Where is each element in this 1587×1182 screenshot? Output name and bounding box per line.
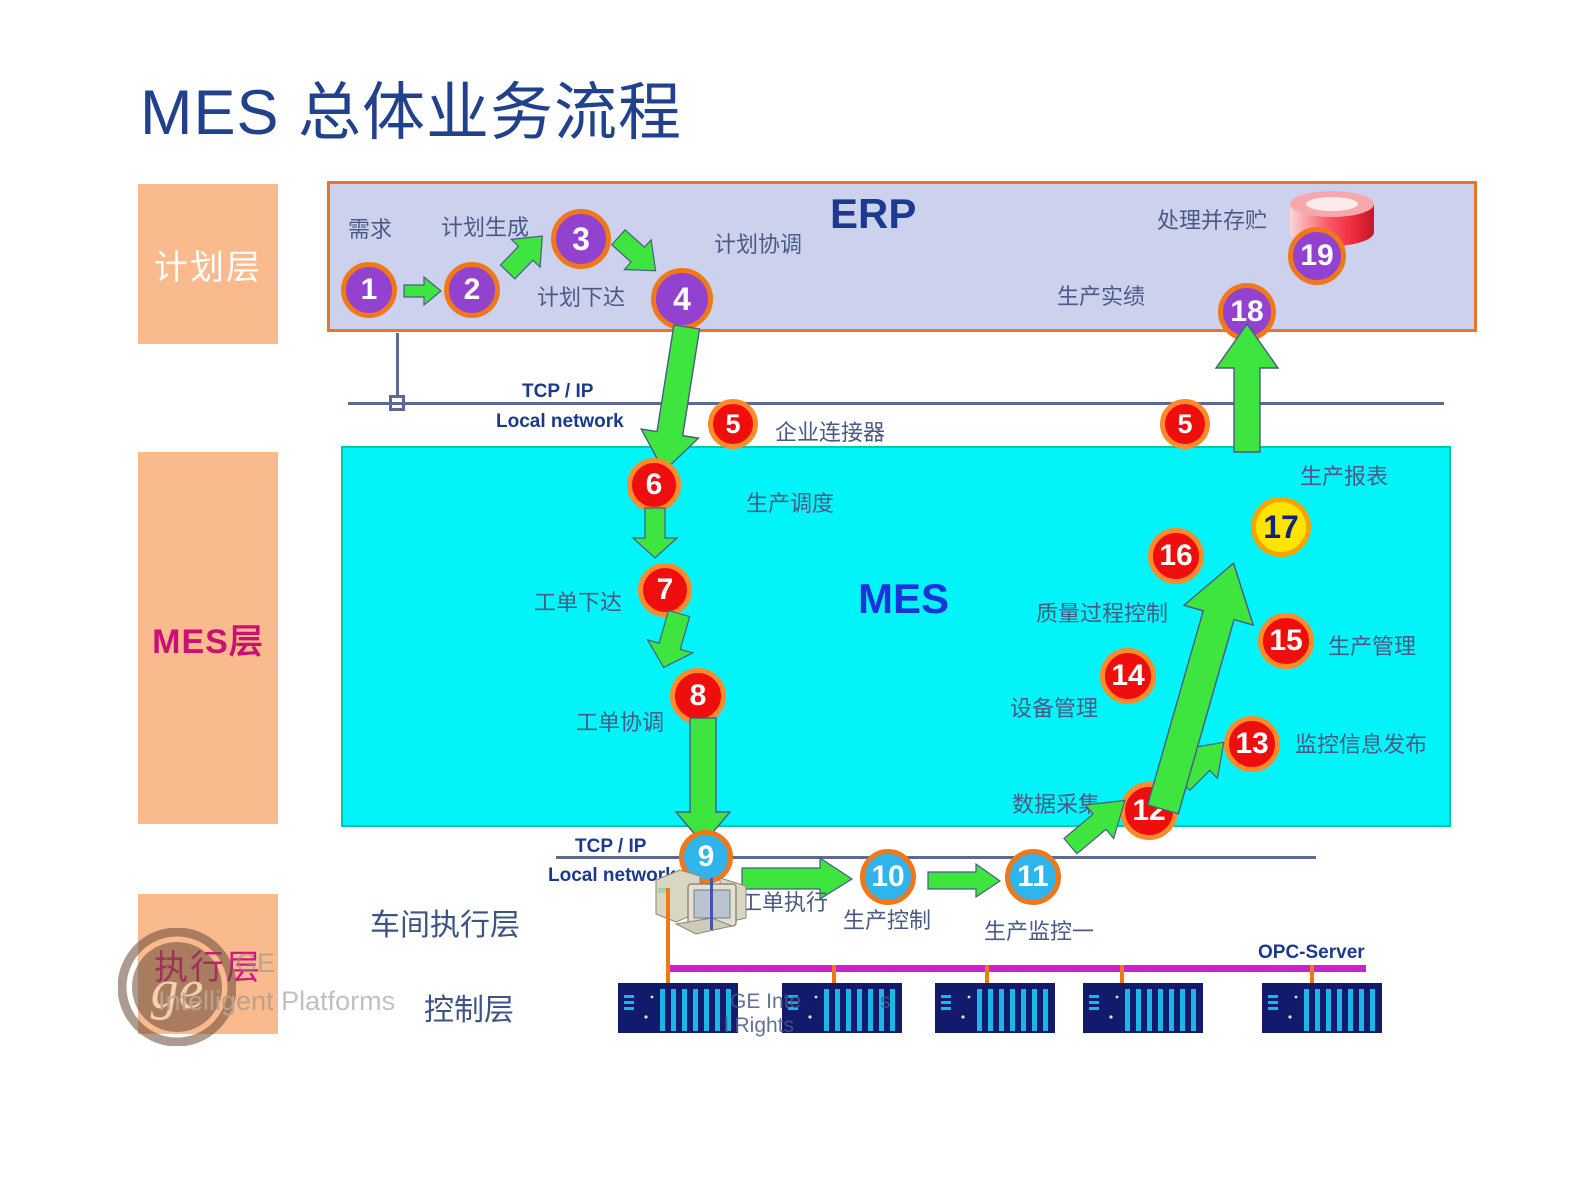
arrow-11-to-12 [1060,790,1136,856]
arrow-1-to-2 [404,277,442,307]
layer-label-execution: 执行层 [154,940,262,989]
label-production-monitor: 生产监控一 [984,914,1094,946]
arrow-10-to-11 [928,864,1002,898]
label-control-layer: 控制层 [424,985,514,1029]
label-production-schedule: 生产调度 [746,486,834,518]
label-production-report: 生产报表 [1300,459,1388,491]
label-opc-server: OPC-Server [1258,942,1365,964]
arrow-8-to-9 [672,718,734,846]
bottom-network-bus [556,856,1316,859]
step-node-8[interactable]: 8 [670,668,726,724]
step-node-1[interactable]: 1 [341,262,397,318]
label-production-manage: 生产管理 [1328,629,1416,661]
arrow-12-to-17 [1132,556,1262,818]
arrow-7-to-8 [646,613,700,671]
step-node-6[interactable]: 6 [627,458,681,512]
label-tcpip-bottom: TCP / IP [575,836,646,858]
arrow-6-to-7 [631,508,679,560]
label-localnetwork-top: Local network [496,411,624,433]
plc-rack-3 [935,983,1055,1033]
label-workorder-release: 工单下达 [534,585,622,617]
label-equipment-manage: 设备管理 [1010,691,1098,723]
label-plan-coordinate: 计划协调 [714,227,802,259]
step-node-2[interactable]: 2 [444,262,500,318]
step-node-10[interactable]: 10 [860,849,916,905]
slide-canvas: MES 总体业务流程 计划层 MES层 执行层 ERP MES 需求 计划生成 … [0,0,1587,1182]
layer-label-planning: 计划层 [154,240,262,289]
step-node-19[interactable]: 19 [1288,227,1346,285]
arrow-to-18 [1212,322,1282,454]
layer-label-mes: MES层 [152,614,264,663]
label-production-control: 生产控制 [843,903,931,935]
arrow-2-to-3 [496,222,554,286]
plc-rack-1 [618,983,738,1033]
plc-rack-5 [1262,983,1382,1033]
step-node-3[interactable]: 3 [551,209,611,269]
watermark-plc-line2: s [880,990,891,1014]
step-node-17[interactable]: 17 [1251,497,1311,557]
label-enterprise-connector: 企业连接器 [775,415,885,447]
erp-bus-stub [396,333,399,400]
layer-box-planning: 计划层 [138,184,278,344]
step-node-15[interactable]: 15 [1258,613,1314,669]
step-node-11[interactable]: 11 [1005,849,1061,905]
layer-box-mes: MES层 [138,452,278,824]
plc-rack-4 [1083,983,1203,1033]
layer-box-execution: 执行层 [138,894,278,1034]
step-node-7[interactable]: 7 [638,563,692,617]
label-workorder-coordinate: 工单协调 [576,705,664,737]
watermark-plc-line3: l Rights [724,1014,794,1038]
page-title: MES 总体业务流程 [140,62,682,153]
opc-bus-line [666,965,1366,972]
opc-drop-pc [666,888,670,966]
arrow-4-to-6 [640,326,710,476]
mes-wordmark: MES [858,575,949,623]
step-node-5b[interactable]: 5 [1160,399,1210,449]
label-tcpip-top: TCP / IP [522,381,593,403]
watermark-plc-line1: GE Inte [730,990,801,1014]
erp-wordmark: ERP [830,190,916,238]
label-workshop-exec-layer: 车间执行层 [370,900,520,944]
label-demand: 需求 [348,212,392,244]
label-monitor-info-publish: 监控信息发布 [1295,727,1427,759]
label-process-store: 处理并存贮 [1157,203,1267,235]
label-production-result: 生产实绩 [1057,279,1145,311]
arrow-3-to-4 [608,222,666,286]
step-node-5a[interactable]: 5 [708,399,758,449]
